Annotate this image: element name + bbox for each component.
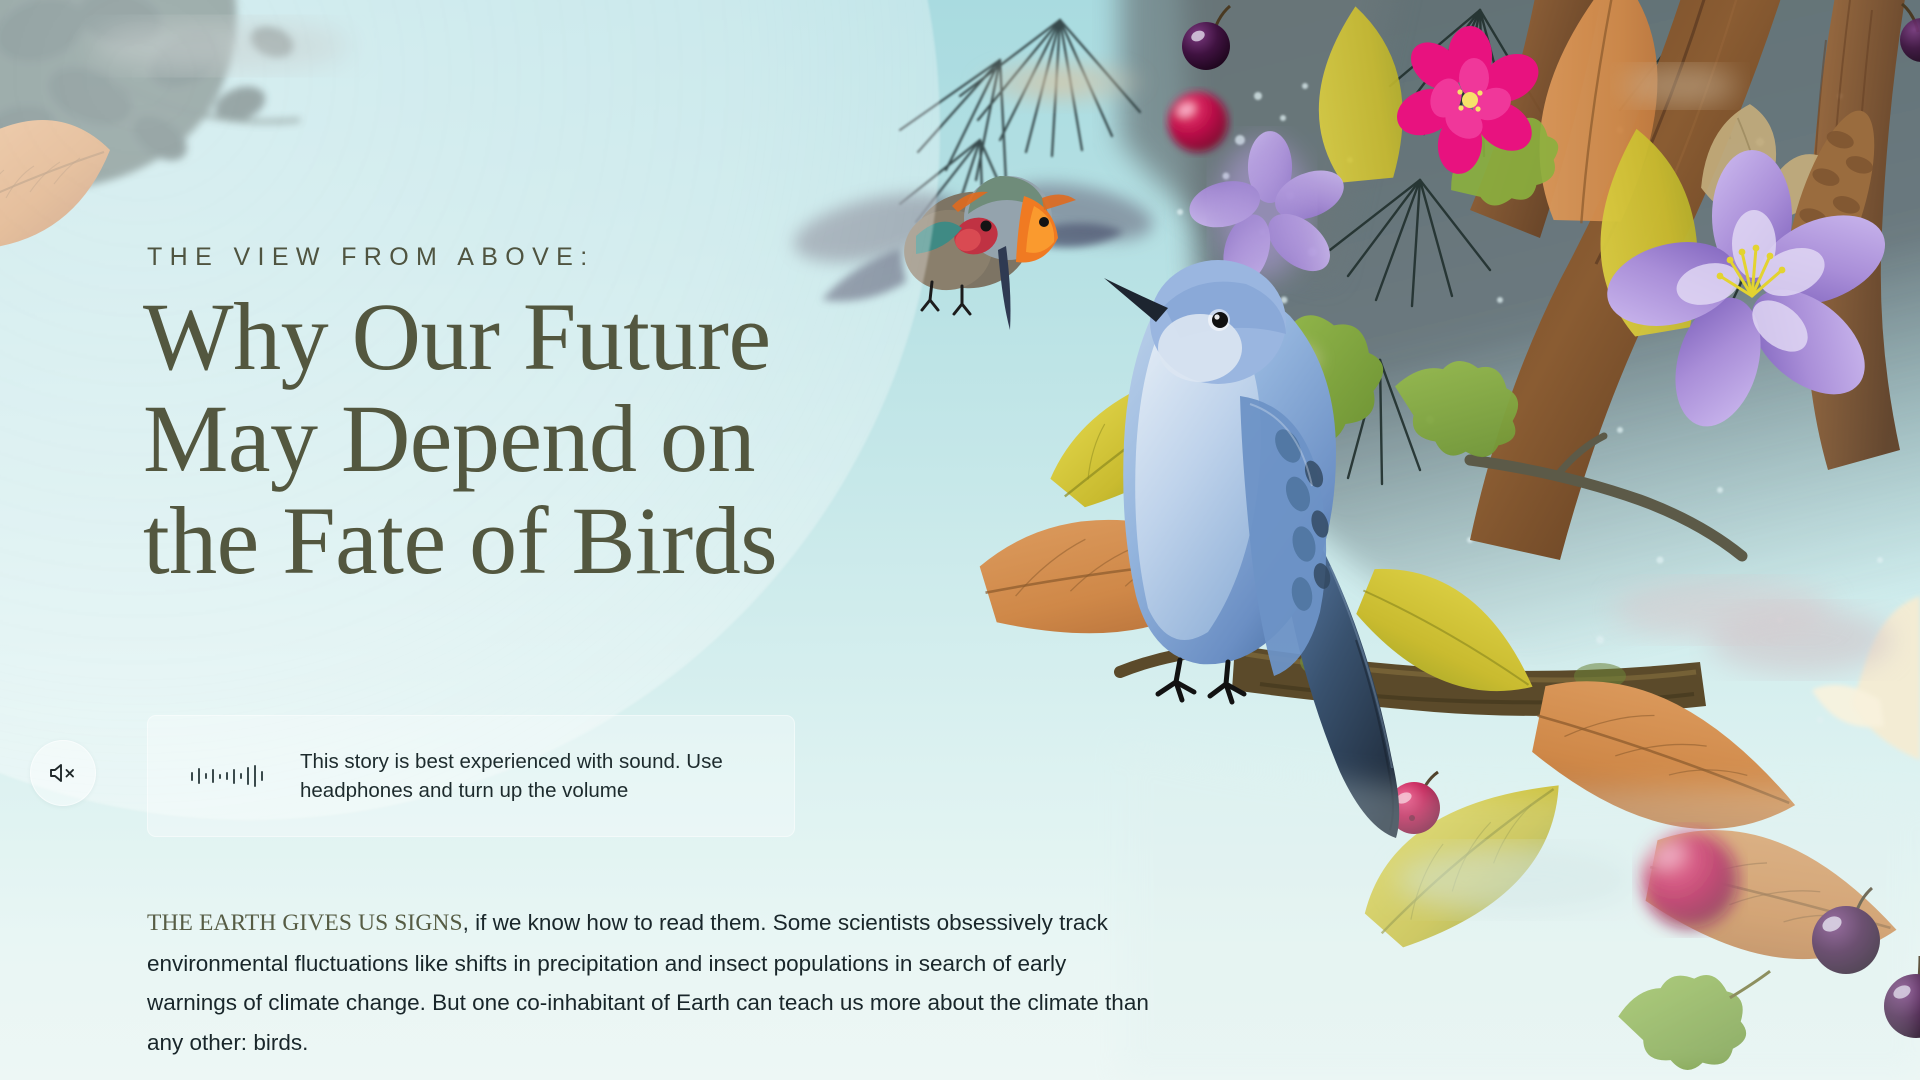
speaker-mute-icon [48, 761, 78, 785]
dried-leaf [1691, 95, 1834, 231]
blurred-feather [1708, 606, 1892, 674]
purple-columbine-small [1185, 131, 1352, 290]
headline-line: the Fate of Birds [143, 487, 777, 594]
sound-notice-card[interactable]: This story is best experienced with soun… [147, 715, 795, 837]
purple-columbine [1598, 150, 1898, 436]
perch-branch [1120, 645, 1706, 716]
page-title: Why Our Future May Depend on the Fate of… [143, 286, 963, 592]
mute-toggle-button[interactable] [30, 740, 96, 806]
tree-bark [1470, 0, 1908, 560]
blurred-flower [1216, 140, 1308, 280]
green-leaf [1200, 299, 1398, 468]
blurred-streak [1622, 66, 1738, 106]
magenta-flower [1390, 26, 1547, 176]
audio-waveform-icon [172, 763, 282, 789]
berries [1168, 4, 1920, 1038]
collage-backdrop [1120, 0, 1920, 724]
blurred-streak [1396, 846, 1636, 914]
headline-line: May Depend on [143, 385, 755, 492]
pine-cone [1767, 101, 1892, 319]
kicker-eyebrow: THE VIEW FROM ABOVE: [147, 243, 595, 272]
bird-feet [1158, 660, 1244, 702]
small-branch [1470, 436, 1742, 556]
green-bud [1305, 643, 1339, 677]
sound-notice-text: This story is best experienced with soun… [300, 747, 740, 805]
hero-page: THE VIEW FROM ABOVE: Why Our Future May … [0, 0, 1920, 1080]
green-leaf [1612, 951, 1770, 1080]
hero-text-column: THE VIEW FROM ABOVE: Why Our Future May … [147, 0, 1157, 1080]
headline-line: Why Our Future [143, 283, 771, 390]
speckles [1177, 57, 1883, 724]
green-leaf [1431, 99, 1572, 226]
blurred-streak [1612, 580, 1832, 640]
cream-flower [1812, 596, 1920, 760]
foreground-haze [1120, 740, 1920, 1080]
green-leaf [1379, 337, 1535, 475]
orange-leaf-topleft [0, 120, 110, 250]
blurred-streak [1164, 336, 1320, 384]
